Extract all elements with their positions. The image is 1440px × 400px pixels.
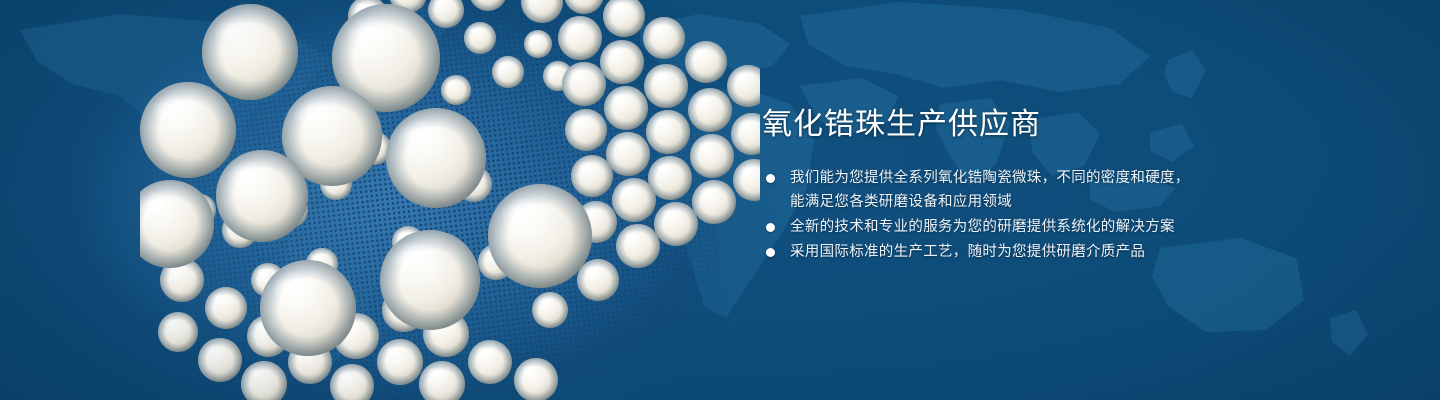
page-title: 氧化锆珠生产供应商 bbox=[762, 105, 1382, 145]
list-item: 采用国际标准的生产工艺，随时为您提供研磨介质产品 bbox=[762, 240, 1382, 264]
bullet-text-line-2: 能满足您各类研磨设备和应用领域 bbox=[790, 190, 1382, 214]
hero-banner: 氧化锆珠生产供应商 我们能为您提供全系列氧化锆陶瓷微珠，不同的密度和硬度， 能满… bbox=[0, 0, 1440, 400]
bullet-dot-icon bbox=[766, 248, 775, 257]
bullet-dot-icon bbox=[766, 223, 775, 232]
bullet-text-line-1: 我们能为您提供全系列氧化锆陶瓷微珠，不同的密度和硬度， bbox=[790, 170, 1190, 186]
list-item: 全新的技术和专业的服务为您的研磨提供系统化的解决方案 bbox=[762, 215, 1382, 239]
list-item: 我们能为您提供全系列氧化锆陶瓷微珠，不同的密度和硬度， 能满足您各类研磨设备和应… bbox=[762, 166, 1382, 214]
feature-list: 我们能为您提供全系列氧化锆陶瓷微珠，不同的密度和硬度， 能满足您各类研磨设备和应… bbox=[762, 166, 1382, 264]
bullet-text-line-1: 采用国际标准的生产工艺，随时为您提供研磨介质产品 bbox=[790, 244, 1145, 260]
bullet-dot-icon bbox=[766, 174, 775, 183]
bullet-text-line-1: 全新的技术和专业的服务为您的研磨提供系统化的解决方案 bbox=[790, 219, 1175, 235]
banner-copy: 氧化锆珠生产供应商 我们能为您提供全系列氧化锆陶瓷微珠，不同的密度和硬度， 能满… bbox=[762, 105, 1382, 265]
